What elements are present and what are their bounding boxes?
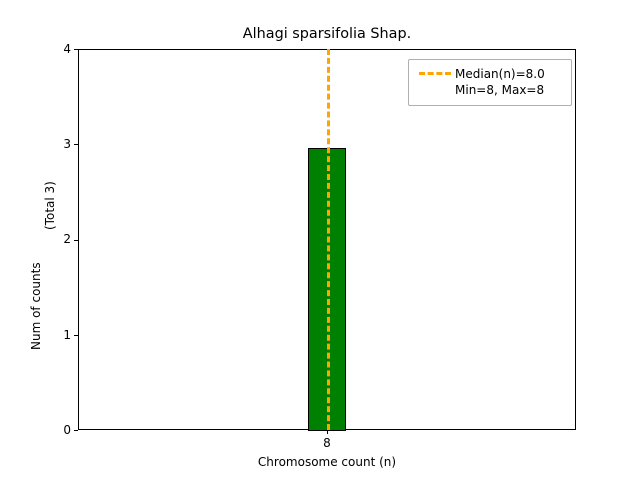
legend-label-range: Min=8, Max=8 — [455, 82, 563, 98]
y-tick-label-2: 2 — [55, 233, 71, 245]
legend: Median(n)=8.0 Min=8, Max=8 — [408, 59, 572, 106]
median-line — [327, 49, 330, 430]
legend-label-median: Median(n)=8.0 — [455, 66, 563, 82]
x-tick-label-8: 8 — [307, 437, 347, 449]
legend-text-block: Median(n)=8.0 Min=8, Max=8 — [455, 66, 563, 98]
x-tick-mark-8 — [327, 430, 328, 434]
y-axis-label-total: (Total 3) — [44, 110, 56, 230]
y-tick-label-0: 0 — [55, 424, 71, 436]
chart-figure: Alhagi sparsifolia Shap. Num of counts (… — [0, 0, 640, 480]
page-title: Alhagi sparsifolia Shap. — [78, 26, 576, 43]
dashed-line-icon — [419, 72, 451, 75]
legend-dash-swatch — [417, 66, 455, 81]
y-axis-label: Num of counts — [30, 110, 42, 350]
legend-row: Median(n)=8.0 Min=8, Max=8 — [417, 66, 563, 98]
y-tick-label-4: 4 — [55, 43, 71, 55]
y-tick-label-1: 1 — [55, 329, 71, 341]
x-axis-label: Chromosome count (n) — [78, 455, 576, 469]
y-tick-mark-0 — [74, 430, 78, 431]
y-tick-label-3: 3 — [55, 138, 71, 150]
